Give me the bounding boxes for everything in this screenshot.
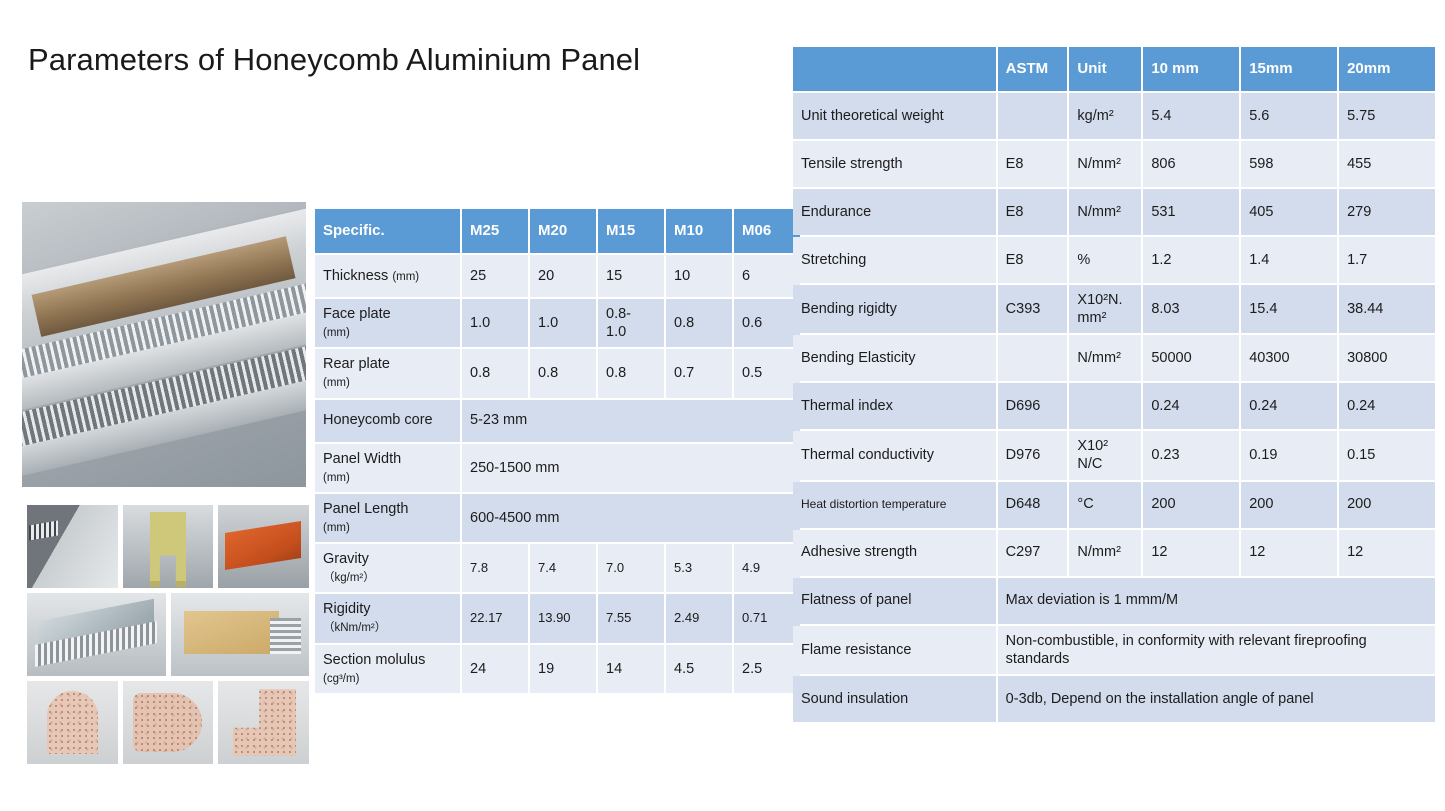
row-label: Panel Width(mm) <box>315 444 460 492</box>
thumbnail-row-2 <box>27 593 309 676</box>
row-value: 200 <box>1339 482 1435 528</box>
row-value: 4.5 <box>666 645 732 693</box>
page-title: Parameters of Honeycomb Aluminium Panel <box>28 42 640 78</box>
row-value: 22.17 <box>462 594 528 642</box>
row-value: 5.6 <box>1241 93 1337 139</box>
row-value: 806 <box>1143 141 1239 187</box>
thumb-u-beam-profile-yellow <box>123 505 214 588</box>
row-label: Thermal index <box>793 383 996 429</box>
row-label: Unit theoretical weight <box>793 93 996 139</box>
right-col-header-10-mm: 10 mm <box>1143 47 1239 91</box>
row-value: 25 <box>462 255 528 297</box>
table-row: Thermal conductivityD976X10² N/C0.230.19… <box>793 431 1435 479</box>
table-row: StretchingE8%1.21.41.7 <box>793 237 1435 283</box>
row-label: Section molulus(cg³/m) <box>315 645 460 693</box>
row-value: 7.0 <box>598 544 664 592</box>
row-value: 19 <box>530 645 596 693</box>
row-value: 40300 <box>1241 335 1337 381</box>
row-value: 14 <box>598 645 664 693</box>
row-label-text: Face plate <box>323 306 391 322</box>
row-merged-value: Non-combustible, in conformity with rele… <box>998 626 1435 674</box>
row-label: Honeycomb core <box>315 400 460 442</box>
thumbnail-row-1 <box>27 505 309 588</box>
row-label-text: Thickness <box>323 268 388 284</box>
row-unit: kg/m² <box>1069 93 1141 139</box>
row-label: Rigidity（kNm/m²） <box>315 594 460 642</box>
thumb-panel-edge-grey <box>27 505 118 588</box>
row-value: 0.8 <box>666 299 732 347</box>
left-table-head: Specific.M25M20M15M10M06 <box>315 209 800 253</box>
row-label-text: Panel Length <box>323 501 408 517</box>
row-label-unit: (mm) <box>323 327 350 339</box>
row-label: Stretching <box>793 237 996 283</box>
row-merged-value: 5-23 mm <box>462 400 800 442</box>
row-value: 0.19 <box>1241 431 1337 479</box>
row-label-unit: (mm) <box>392 271 419 283</box>
table-row: Unit theoretical weightkg/m²5.45.65.75 <box>793 93 1435 139</box>
row-value: 15.4 <box>1241 285 1337 333</box>
row-unit: N/mm² <box>1069 189 1141 235</box>
thumbnail-row-3 <box>27 681 309 764</box>
row-value: 38.44 <box>1339 285 1435 333</box>
row-unit: N/mm² <box>1069 141 1141 187</box>
product-thumbnail-grid <box>27 505 309 769</box>
right-header-row: ASTMUnit10 mm15mm20mm <box>793 47 1435 91</box>
row-value: 5.4 <box>1143 93 1239 139</box>
row-label: Tensile strength <box>793 141 996 187</box>
row-astm: D696 <box>998 383 1068 429</box>
row-label-text: Endurance <box>801 204 871 220</box>
row-astm: C297 <box>998 530 1068 576</box>
row-merged-value: 250-1500 mm <box>462 444 800 492</box>
row-value: 1.0 <box>462 299 528 347</box>
thumb-beige-box-honeycomb-edge <box>171 593 310 676</box>
thumb-granite-l-shape <box>218 681 309 764</box>
row-label: Thickness (mm) <box>315 255 460 297</box>
row-label-text: Rigidity <box>323 601 371 617</box>
left-col-header-m20: M20 <box>530 209 596 253</box>
row-label-text: Thermal index <box>801 398 893 414</box>
row-value: 13.90 <box>530 594 596 642</box>
table-row: Flatness of panelMax deviation is 1 mmm/… <box>793 578 1435 624</box>
row-value: 405 <box>1241 189 1337 235</box>
table-row: Rear plate(mm)0.80.80.80.70.5 <box>315 349 800 397</box>
row-value: 7.4 <box>530 544 596 592</box>
row-value: 0.8 <box>462 349 528 397</box>
row-label-text: Flame resistance <box>801 642 911 658</box>
right-col-header-15mm: 15mm <box>1241 47 1337 91</box>
row-label: Flatness of panel <box>793 578 996 624</box>
row-label-text: Rear plate <box>323 356 390 372</box>
row-merged-value: 0-3db, Depend on the installation angle … <box>998 676 1435 722</box>
left-spec-table: Specific.M25M20M15M10M06 Thickness (mm)2… <box>313 207 802 695</box>
row-label-text: Heat distortion temperature <box>801 497 946 511</box>
left-col-header-m15: M15 <box>598 209 664 253</box>
row-value: 20 <box>530 255 596 297</box>
right-col-header-20mm: 20mm <box>1339 47 1435 91</box>
row-value: 1.7 <box>1339 237 1435 283</box>
row-value: 12 <box>1143 530 1239 576</box>
row-value: 15 <box>598 255 664 297</box>
thumb-orange-panel-sheet <box>218 505 309 588</box>
row-value: 8.03 <box>1143 285 1239 333</box>
row-label: Heat distortion temperature <box>793 482 996 528</box>
row-label: Face plate(mm) <box>315 299 460 347</box>
row-value: 0.7 <box>666 349 732 397</box>
row-value: 0.8- 1.0 <box>598 299 664 347</box>
row-unit: N/mm² <box>1069 335 1141 381</box>
row-merged-value: Max deviation is 1 mmm/M <box>998 578 1435 624</box>
row-label-text: Sound insulation <box>801 691 908 707</box>
row-label-text: Gravity <box>323 551 369 567</box>
row-label-text: Thermal conductivity <box>801 447 934 463</box>
row-label: Adhesive strength <box>793 530 996 576</box>
row-value: 0.24 <box>1143 383 1239 429</box>
table-row: Face plate(mm)1.01.00.8- 1.00.80.6 <box>315 299 800 347</box>
row-value: 0.24 <box>1241 383 1337 429</box>
row-value: 0.15 <box>1339 431 1435 479</box>
thumb-aluminium-honeycomb-core-panel <box>27 593 166 676</box>
row-label-text: Adhesive strength <box>801 544 917 560</box>
row-label-unit: (mm) <box>323 472 350 484</box>
row-label: Bending Elasticity <box>793 335 996 381</box>
thumb-granite-curved-wall <box>123 681 214 764</box>
row-value: 50000 <box>1143 335 1239 381</box>
row-astm: E8 <box>998 189 1068 235</box>
row-value: 0.8 <box>598 349 664 397</box>
row-value: 7.8 <box>462 544 528 592</box>
row-value: 1.2 <box>1143 237 1239 283</box>
row-label-text: Panel Width <box>323 451 401 467</box>
row-astm <box>998 93 1068 139</box>
row-astm: C393 <box>998 285 1068 333</box>
row-label-unit: (mm) <box>323 377 350 389</box>
row-value: 1.4 <box>1241 237 1337 283</box>
right-table-body: Unit theoretical weightkg/m²5.45.65.75Te… <box>793 93 1435 722</box>
row-value: 0.24 <box>1339 383 1435 429</box>
row-unit: X10² N/C <box>1069 431 1141 479</box>
row-label-text: Stretching <box>801 252 866 268</box>
table-row: Flame resistanceNon-combustible, in conf… <box>793 626 1435 674</box>
row-astm: D648 <box>998 482 1068 528</box>
row-label: Rear plate(mm) <box>315 349 460 397</box>
right-col-header-unit: Unit <box>1069 47 1141 91</box>
table-row: Honeycomb core5-23 mm <box>315 400 800 442</box>
table-row: Tensile strengthE8N/mm²806598455 <box>793 141 1435 187</box>
row-value: 10 <box>666 255 732 297</box>
row-value: 7.55 <box>598 594 664 642</box>
table-row: Panel Length(mm)600-4500 mm <box>315 494 800 542</box>
left-col-header-m10: M10 <box>666 209 732 253</box>
row-label: Gravity（kg/m²） <box>315 544 460 592</box>
row-label-unit: (cg³/m) <box>323 673 359 685</box>
left-col-header-m25: M25 <box>462 209 528 253</box>
table-row: Gravity（kg/m²）7.87.47.05.34.9 <box>315 544 800 592</box>
table-row: EnduranceE8N/mm²531405279 <box>793 189 1435 235</box>
row-value: 598 <box>1241 141 1337 187</box>
row-astm: D976 <box>998 431 1068 479</box>
row-value: 0.8 <box>530 349 596 397</box>
right-col-header-blank <box>793 47 996 91</box>
row-astm <box>998 335 1068 381</box>
row-label-unit: (mm) <box>323 522 350 534</box>
row-value: 0.23 <box>1143 431 1239 479</box>
table-row: Adhesive strengthC297N/mm²121212 <box>793 530 1435 576</box>
left-header-row: Specific.M25M20M15M10M06 <box>315 209 800 253</box>
row-value: 455 <box>1339 141 1435 187</box>
table-row: Bending ElasticityN/mm²500004030030800 <box>793 335 1435 381</box>
row-value: 2.49 <box>666 594 732 642</box>
row-astm: E8 <box>998 141 1068 187</box>
row-value: 12 <box>1339 530 1435 576</box>
table-row: Panel Width(mm)250-1500 mm <box>315 444 800 492</box>
row-label: Flame resistance <box>793 626 996 674</box>
row-label: Sound insulation <box>793 676 996 722</box>
row-astm: E8 <box>998 237 1068 283</box>
left-col-header-specific-: Specific. <box>315 209 460 253</box>
row-unit: N/mm² <box>1069 530 1141 576</box>
row-label: Bending rigidty <box>793 285 996 333</box>
row-label-text: Unit theoretical weight <box>801 108 944 124</box>
table-row: Heat distortion temperatureD648°C2002002… <box>793 482 1435 528</box>
row-label-text: Bending Elasticity <box>801 350 915 366</box>
row-label-text: Section molulus <box>323 652 425 668</box>
table-row: Thickness (mm)252015106 <box>315 255 800 297</box>
row-label-unit: （kg/m²） <box>323 572 375 584</box>
row-value: 200 <box>1241 482 1337 528</box>
right-table-head: ASTMUnit10 mm15mm20mm <box>793 47 1435 91</box>
row-merged-value: 600-4500 mm <box>462 494 800 542</box>
row-value: 1.0 <box>530 299 596 347</box>
row-value: 531 <box>1143 189 1239 235</box>
row-label: Thermal conductivity <box>793 431 996 479</box>
row-label: Panel Length(mm) <box>315 494 460 542</box>
row-label-text: Flatness of panel <box>801 592 911 608</box>
row-label-text: Honeycomb core <box>323 412 433 428</box>
row-unit: °C <box>1069 482 1141 528</box>
thumb-granite-curved-column <box>27 681 118 764</box>
row-label-text: Tensile strength <box>801 156 903 172</box>
row-label-unit: （kNm/m²） <box>323 622 386 634</box>
slide-canvas: Parameters of Honeycomb Aluminium Panel <box>0 0 1445 811</box>
hero-panel-photo <box>22 202 306 487</box>
table-row: Bending rigidtyC393X10²N. mm²8.0315.438.… <box>793 285 1435 333</box>
row-value: 279 <box>1339 189 1435 235</box>
row-value: 200 <box>1143 482 1239 528</box>
table-row: Thermal indexD6960.240.240.24 <box>793 383 1435 429</box>
row-label: Endurance <box>793 189 996 235</box>
table-row: Sound insulation0-3db, Depend on the ins… <box>793 676 1435 722</box>
table-row: Rigidity（kNm/m²）22.1713.907.552.490.71 <box>315 594 800 642</box>
row-value: 12 <box>1241 530 1337 576</box>
right-col-header-astm: ASTM <box>998 47 1068 91</box>
row-unit: X10²N. mm² <box>1069 285 1141 333</box>
table-row: Section molulus(cg³/m)2419144.52.5 <box>315 645 800 693</box>
right-spec-table: ASTMUnit10 mm15mm20mm Unit theoretical w… <box>791 45 1437 724</box>
row-unit: % <box>1069 237 1141 283</box>
row-label-text: Bending rigidty <box>801 301 897 317</box>
row-unit <box>1069 383 1141 429</box>
left-table-body: Thickness (mm)252015106Face plate(mm)1.0… <box>315 255 800 693</box>
row-value: 30800 <box>1339 335 1435 381</box>
row-value: 5.3 <box>666 544 732 592</box>
row-value: 24 <box>462 645 528 693</box>
row-value: 5.75 <box>1339 93 1435 139</box>
